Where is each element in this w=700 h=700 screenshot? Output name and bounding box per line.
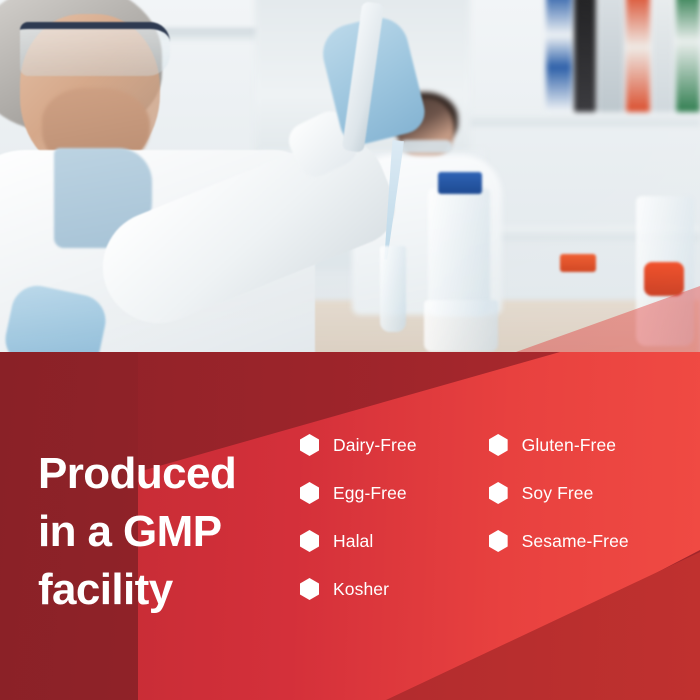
list-item: Gluten-Free bbox=[489, 434, 629, 456]
panel-content: Produced in a GMP facility Dairy-Free Eg… bbox=[0, 352, 700, 700]
claim-label: Sesame-Free bbox=[522, 531, 629, 552]
hexagon-bullet-icon bbox=[489, 482, 508, 504]
list-item: Kosher bbox=[300, 578, 417, 600]
list-item: Egg-Free bbox=[300, 482, 417, 504]
gmp-facility-banner: Produced in a GMP facility Dairy-Free Eg… bbox=[0, 0, 700, 700]
list-item: Dairy-Free bbox=[300, 434, 417, 456]
headline-line-3: facility bbox=[38, 561, 288, 619]
hexagon-bullet-icon bbox=[300, 530, 319, 552]
list-item: Soy Free bbox=[489, 482, 629, 504]
hexagon-bullet-icon bbox=[300, 434, 319, 456]
hexagon-bullet-icon bbox=[489, 530, 508, 552]
list-item: Halal bbox=[300, 530, 417, 552]
claims-column-left: Dairy-Free Egg-Free Halal Kosher bbox=[300, 434, 417, 600]
laboratory-photo bbox=[0, 0, 700, 352]
red-message-panel: Produced in a GMP facility Dairy-Free Eg… bbox=[0, 352, 700, 700]
hexagon-bullet-icon bbox=[300, 578, 319, 600]
list-item: Sesame-Free bbox=[489, 530, 629, 552]
claim-label: Egg-Free bbox=[333, 483, 407, 504]
claim-label: Soy Free bbox=[522, 483, 594, 504]
headline-line-1: Produced bbox=[38, 445, 288, 503]
page-title: Produced in a GMP facility bbox=[38, 445, 288, 618]
hexagon-bullet-icon bbox=[300, 482, 319, 504]
hexagon-bullet-icon bbox=[489, 434, 508, 456]
photo-soft-overlay bbox=[0, 0, 700, 352]
photo-scene bbox=[0, 0, 700, 352]
claim-label: Halal bbox=[333, 531, 373, 552]
claim-label: Gluten-Free bbox=[522, 435, 616, 456]
claim-label: Kosher bbox=[333, 579, 389, 600]
claim-label: Dairy-Free bbox=[333, 435, 417, 456]
headline-line-2: in a GMP bbox=[38, 503, 288, 561]
claims-list: Dairy-Free Egg-Free Halal Kosher bbox=[300, 434, 629, 600]
claims-column-right: Gluten-Free Soy Free Sesame-Free bbox=[489, 434, 629, 600]
